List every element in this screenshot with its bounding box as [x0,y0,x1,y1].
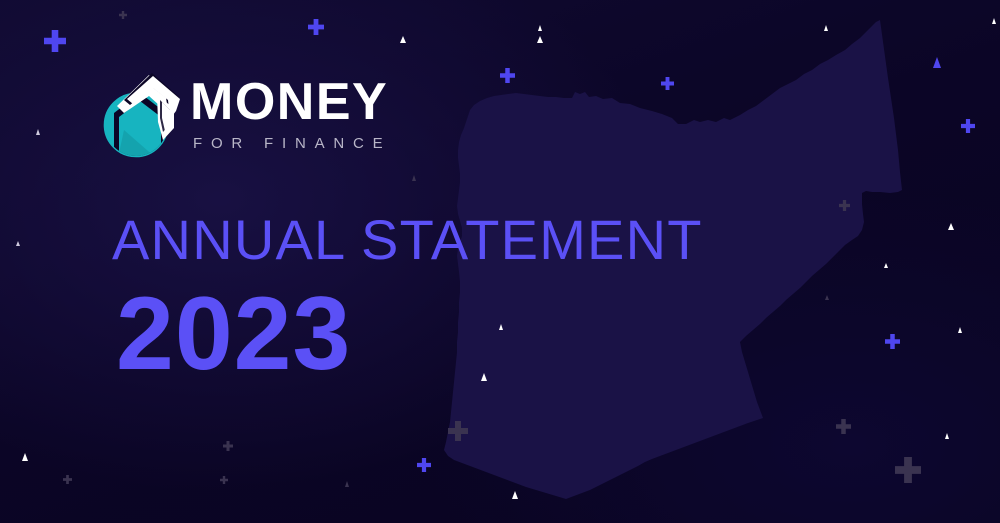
triangle-icon [958,324,962,333]
triangle-icon [992,15,996,24]
triangle-icon [36,126,40,135]
triangle-icon [400,33,406,43]
plus-icon [308,19,324,35]
statement-title: ANNUAL STATEMENT [112,212,703,268]
plus-icon [885,334,900,349]
triangle-icon [345,478,349,487]
brand-name: MONEY [190,77,391,128]
triangle-icon [884,260,888,268]
triangle-icon [512,488,518,499]
plus-icon [895,457,921,483]
headline-block: ANNUAL STATEMENT 2023 [112,212,703,386]
triangle-icon [538,22,542,31]
plus-icon [417,458,431,472]
plus-icon [63,475,72,484]
triangle-icon [824,22,828,31]
annual-statement-cover: MONEY FOR FINANCE ANNUAL STATEMENT 2023 [0,0,1000,523]
plus-icon [961,119,975,133]
triangle-icon [16,238,20,246]
plus-icon [839,200,850,211]
plus-icon [500,68,515,83]
plus-icon [836,419,851,434]
plus-icon [44,30,66,52]
triangle-icon [933,54,941,68]
plus-icon [119,11,127,19]
triangle-icon [22,450,28,461]
plus-icon [448,421,468,441]
triangle-icon [412,172,416,181]
triangle-icon [825,292,829,300]
statement-year: 2023 [116,282,703,386]
triangle-icon [948,220,954,230]
shield-stack-icon [100,66,182,162]
brand-logo: MONEY FOR FINANCE [100,66,391,162]
brand-tagline: FOR FINANCE [193,136,391,151]
plus-icon [661,77,674,90]
triangle-icon [537,33,543,43]
triangle-icon [945,430,949,439]
plus-icon [223,441,233,451]
plus-icon [220,476,228,484]
